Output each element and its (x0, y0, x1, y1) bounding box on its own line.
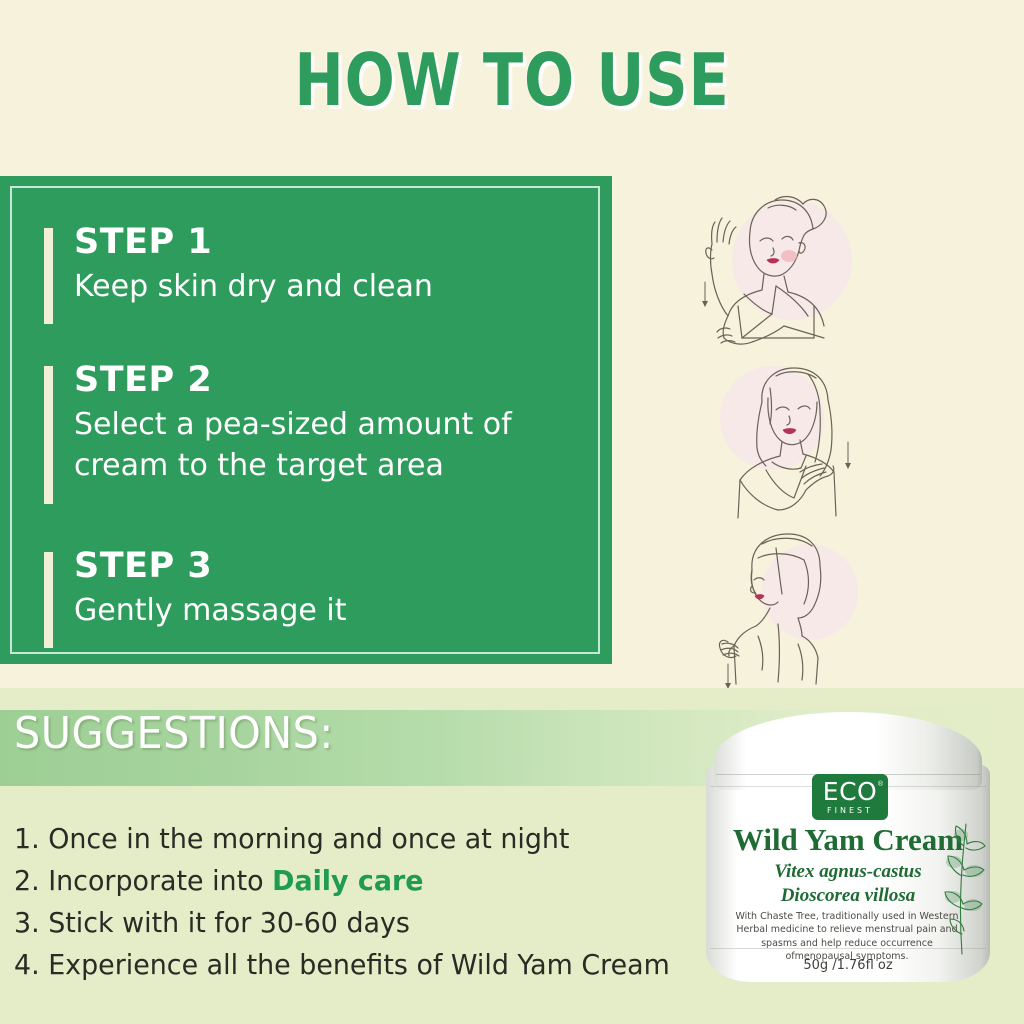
product-size: 50g /1.76fl oz (700, 958, 996, 973)
brand-subtitle: FINEST (827, 807, 873, 815)
step-item-3: STEP 3 Gently massage it (30, 546, 347, 632)
step-item-2: STEP 2 Select a pea-sized amount of crea… (30, 360, 612, 486)
registered-trademark-icon: ® (878, 781, 883, 788)
woman-back-massaging-shoulder-illustration (700, 524, 910, 689)
list-item-number: 4. (14, 948, 40, 981)
list-item: 2. Incorporate into Daily care (14, 860, 686, 902)
step-title: STEP 1 (74, 222, 433, 263)
brand-name: ECO (823, 779, 877, 804)
step-title: STEP 2 (74, 360, 612, 401)
page-title: HOW TO USE (92, 38, 932, 122)
list-item-text: Once in the morning and once at night (48, 822, 569, 855)
product-jar-image: ® ECO FINEST Wild Yam Cream Vitex agnus-… (700, 712, 996, 994)
step-description: Keep skin dry and clean (74, 267, 433, 308)
step-accent-bar (44, 552, 53, 648)
infographic-page: HOW TO USE STEP 1 Keep skin dry and clea… (0, 0, 1024, 1024)
list-item: 4. Experience all the benefits of Wild Y… (14, 944, 686, 986)
how-to-use-section: HOW TO USE STEP 1 Keep skin dry and clea… (0, 0, 1024, 688)
list-item-number: 3. (14, 906, 40, 939)
list-item-highlight: Daily care (272, 864, 423, 897)
list-item: 1. Once in the morning and once at night (14, 818, 686, 860)
eco-finest-logo: ® ECO FINEST (812, 774, 888, 820)
step-item-1: STEP 1 Keep skin dry and clean (30, 222, 433, 308)
suggestions-heading: SUGGESTIONS: (14, 708, 334, 759)
list-item: 3. Stick with it for 30-60 days (14, 902, 686, 944)
list-item-text: Stick with it for 30-60 days (48, 906, 410, 939)
product-description: With Chaste Tree, traditionally used in … (730, 910, 964, 964)
step-accent-bar (44, 366, 53, 504)
suggestions-list: 1. Once in the morning and once at night… (14, 818, 714, 986)
list-item-number: 1. (14, 822, 40, 855)
step-title: STEP 3 (74, 546, 347, 587)
woman-applying-cream-to-forearm-illustration (672, 186, 902, 356)
step-description: Select a pea-sized amount of cream to th… (74, 405, 612, 486)
list-item-text: Incorporate into (48, 864, 272, 897)
steps-panel: STEP 1 Keep skin dry and clean STEP 2 Se… (0, 176, 612, 664)
step-accent-bar (44, 228, 53, 324)
woman-applying-cream-to-shoulder-illustration (700, 358, 910, 523)
list-item-text: Experience all the benefits of Wild Yam … (48, 948, 670, 981)
step-description: Gently massage it (74, 591, 347, 632)
list-item-number: 2. (14, 864, 40, 897)
vine-leaf-illustration (932, 816, 990, 956)
